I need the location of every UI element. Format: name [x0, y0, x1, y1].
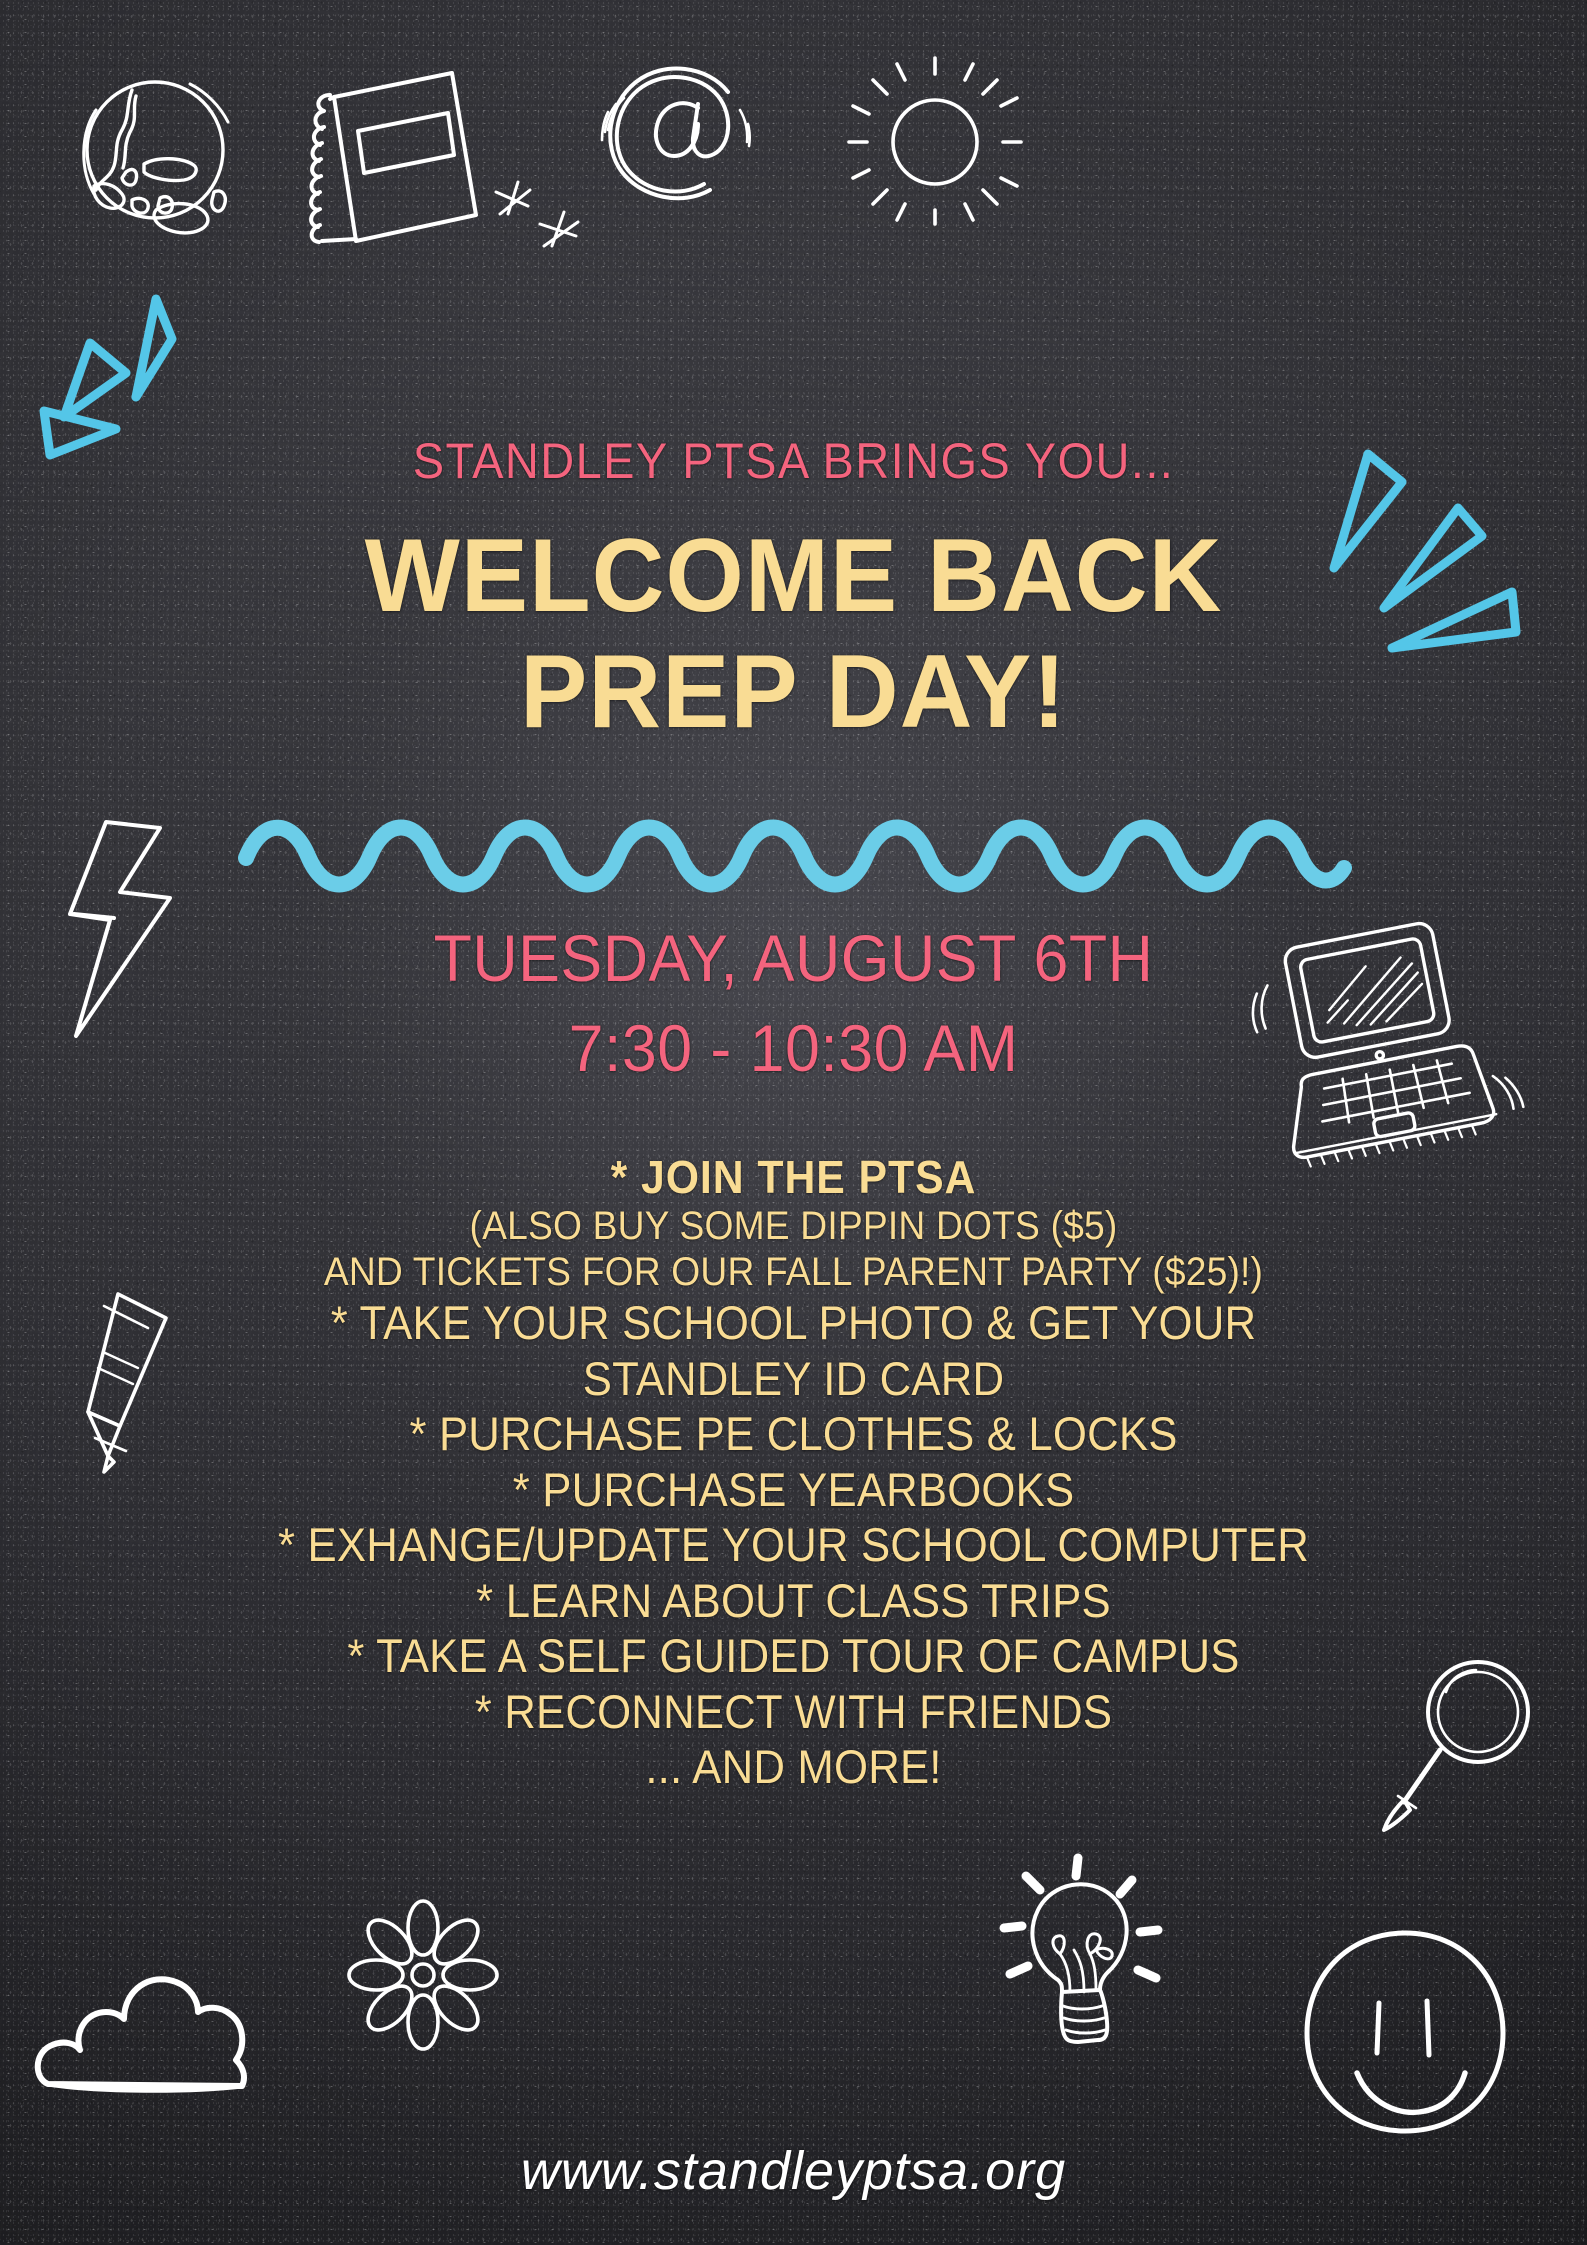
activity-list-item: * TAKE YOUR SCHOOL PHOTO & GET YOUR — [56, 1295, 1532, 1350]
activity-list-item: * JOIN THE PTSA — [56, 1150, 1532, 1204]
activity-list-item: * LEARN ABOUT CLASS TRIPS — [56, 1573, 1532, 1628]
page-title-line-1: WELCOME BACK — [24, 524, 1563, 628]
poster-content: STANDLEY PTSA BRINGS YOU... WELCOME BACK… — [0, 0, 1587, 2245]
poster-canvas: STANDLEY PTSA BRINGS YOU... WELCOME BACK… — [0, 0, 1587, 2245]
activity-list-item: * TAKE A SELF GUIDED TOUR OF CAMPUS — [56, 1628, 1532, 1683]
activity-list: * JOIN THE PTSA(ALSO BUY SOME DIPPIN DOT… — [0, 1150, 1587, 1795]
event-time: 7:30 - 10:30 AM — [40, 1010, 1548, 1086]
event-date: TUESDAY, AUGUST 6TH — [40, 920, 1548, 996]
activity-list-item: (ALSO BUY SOME DIPPIN DOTS ($5) — [56, 1204, 1532, 1250]
website-url[interactable]: www.standleyptsa.org — [0, 2140, 1587, 2202]
page-title-line-2: PREP DAY! — [24, 640, 1563, 744]
activity-list-item: * PURCHASE YEARBOOKS — [56, 1462, 1532, 1517]
activity-list-item: STANDLEY ID CARD — [56, 1351, 1532, 1406]
activity-list-item: ... AND MORE! — [56, 1739, 1532, 1794]
activity-list-item: * RECONNECT WITH FRIENDS — [56, 1684, 1532, 1739]
kicker-text: STANDLEY PTSA BRINGS YOU... — [48, 432, 1540, 490]
activity-list-item: * EXHANGE/UPDATE YOUR SCHOOL COMPUTER — [56, 1517, 1532, 1572]
activity-list-item: * PURCHASE PE CLOTHES & LOCKS — [56, 1406, 1532, 1461]
activity-list-item: AND TICKETS FOR OUR FALL PARENT PARTY ($… — [56, 1250, 1532, 1296]
